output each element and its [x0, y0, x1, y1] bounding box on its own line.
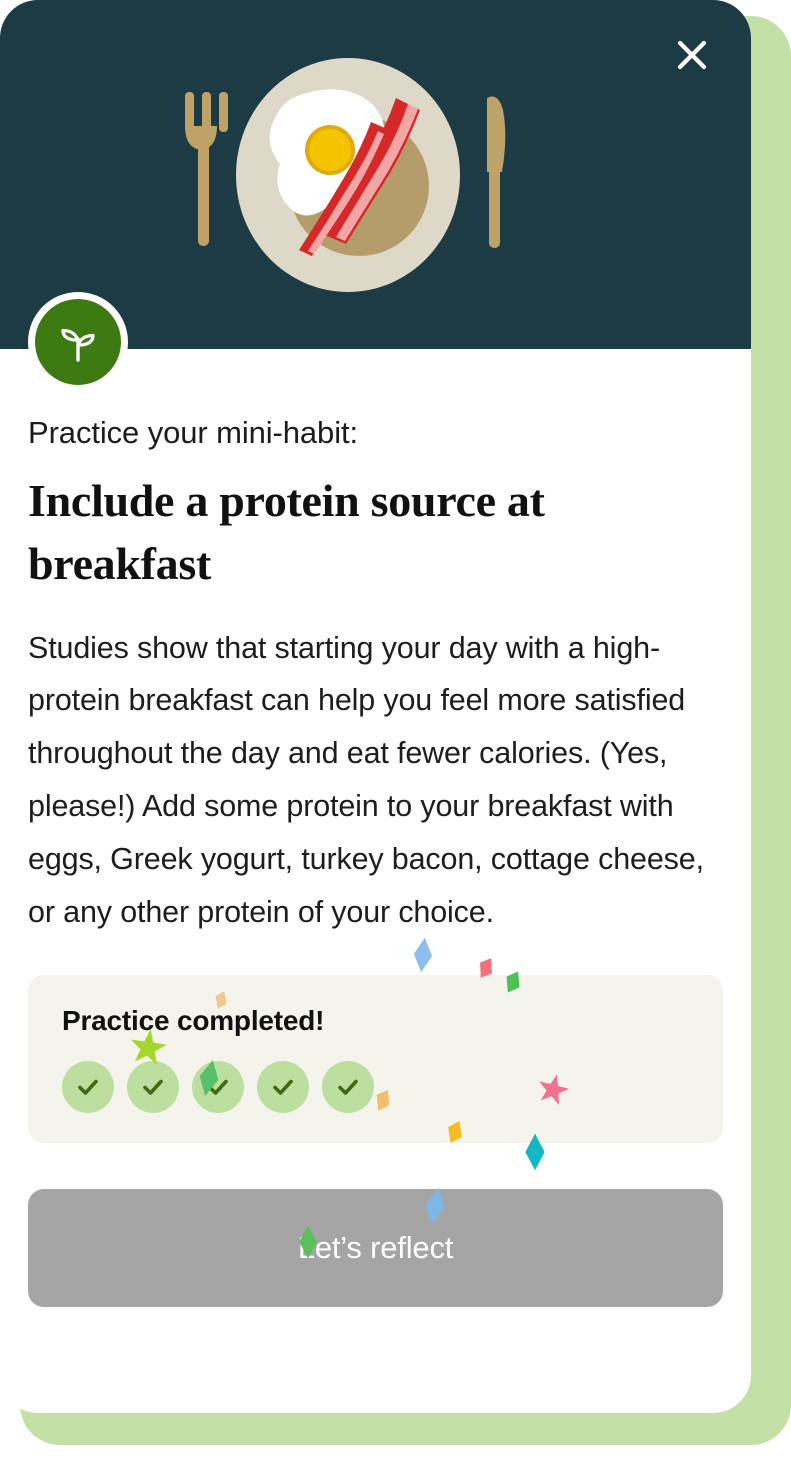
- completion-check-2: [127, 1061, 179, 1113]
- completion-check-3: [192, 1061, 244, 1113]
- completion-check-1: [62, 1061, 114, 1113]
- check-icon: [74, 1073, 102, 1101]
- completion-streak: [62, 1061, 689, 1113]
- eyebrow-label: Practice your mini-habit:: [28, 349, 723, 451]
- practice-modal-card: Practice your mini-habit: Include a prot…: [0, 0, 751, 1413]
- avatar-circle: [35, 299, 121, 385]
- avatar: [28, 292, 128, 392]
- practice-completed-panel: Practice completed!: [28, 975, 723, 1143]
- hero-banner: [0, 0, 751, 349]
- card-body: Practice your mini-habit: Include a prot…: [0, 349, 751, 1307]
- check-icon: [269, 1073, 297, 1101]
- cta-container: Let’s reflect: [28, 1189, 723, 1307]
- check-icon: [204, 1073, 232, 1101]
- screen-root: Practice your mini-habit: Include a prot…: [0, 0, 791, 1463]
- check-icon: [139, 1073, 167, 1101]
- breakfast-plate-illustration: [0, 0, 751, 349]
- sprout-icon: [54, 318, 102, 366]
- close-button[interactable]: [663, 26, 721, 84]
- body-text: Studies show that starting your day with…: [28, 596, 723, 939]
- completion-check-5: [322, 1061, 374, 1113]
- check-icon: [334, 1073, 362, 1101]
- lets-reflect-button[interactable]: Let’s reflect: [28, 1189, 723, 1307]
- close-icon: [670, 33, 714, 77]
- completion-check-4: [257, 1061, 309, 1113]
- page-title: Include a protein source at breakfast: [28, 451, 668, 596]
- practice-completed-label: Practice completed!: [62, 1005, 689, 1037]
